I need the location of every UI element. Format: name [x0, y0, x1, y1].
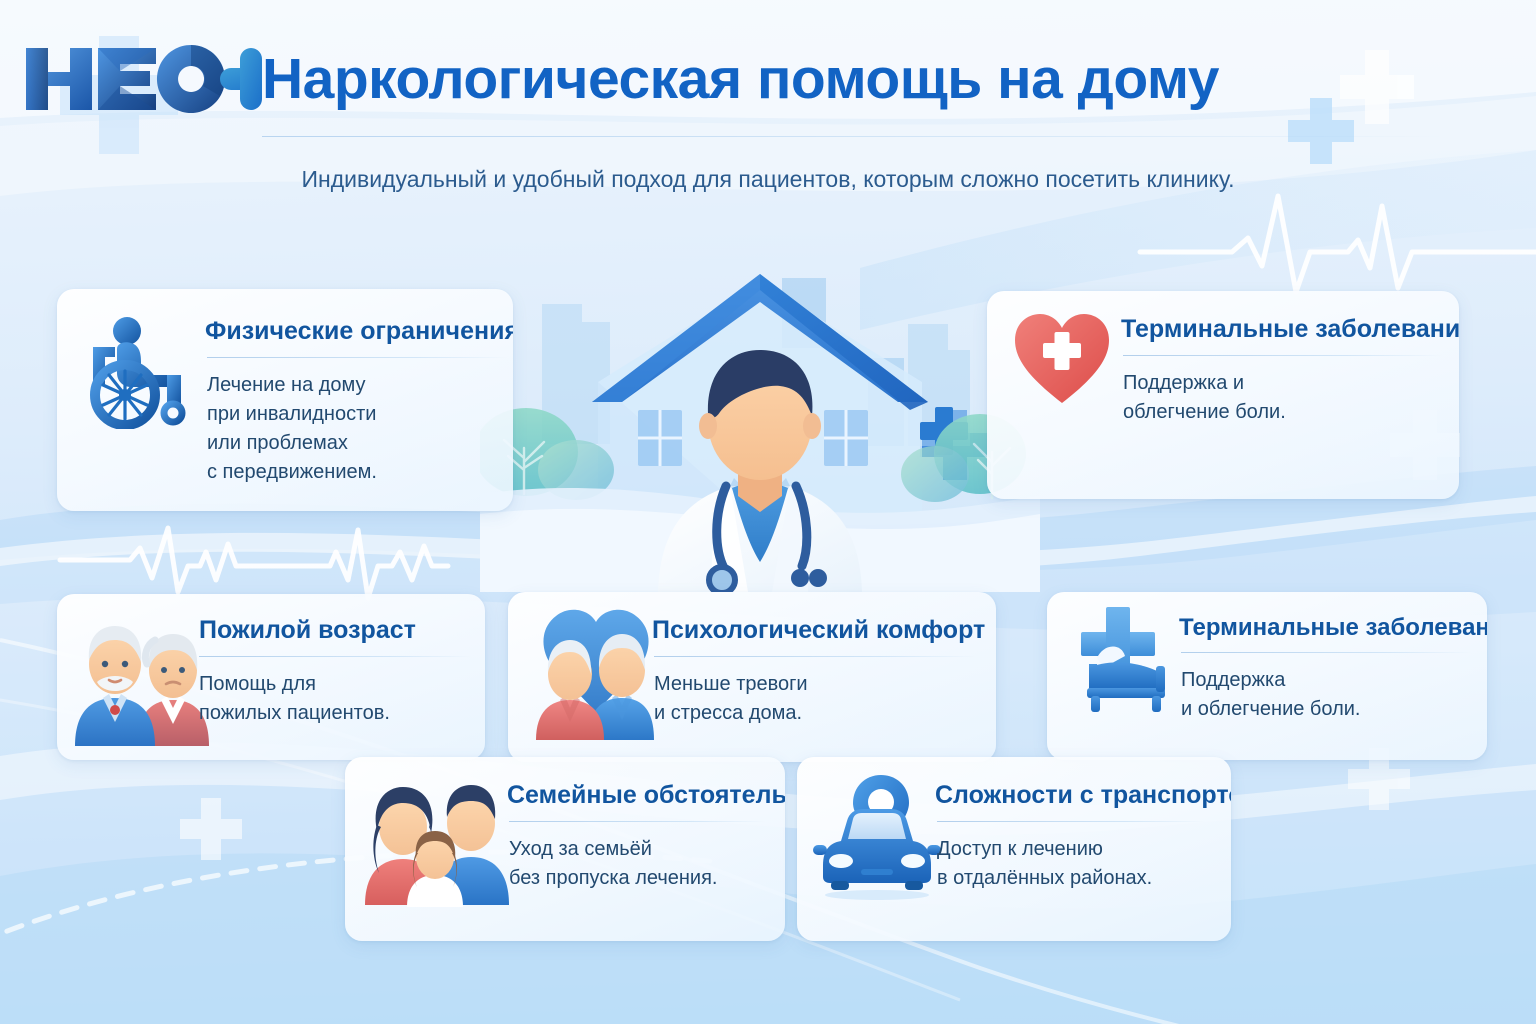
card-title: Терминальные заболевания: [1121, 315, 1459, 344]
card-title: Сложности с транспортом: [935, 781, 1231, 810]
card-title: Терминальные заболевания: [1179, 614, 1487, 642]
card-family-circumstances[interactable]: Семейные обстоятельства Уход за семьёй б…: [345, 757, 785, 941]
brand-logo[interactable]: [22, 40, 262, 118]
card-terminal-illness-bed[interactable]: Терминальные заболевания Поддержка и обл…: [1047, 592, 1487, 760]
card-terminal-illness-heart[interactable]: Терминальные заболевания Поддержка и обл…: [987, 291, 1459, 499]
infographic-poster: Наркологическая помощь на дому Индивидуа…: [0, 0, 1536, 1024]
title-divider: [262, 136, 1447, 137]
card-description: Доступ к лечению в отдалённых районах.: [937, 835, 1207, 893]
wheelchair-icon: [81, 309, 201, 429]
card-divider: [199, 656, 471, 657]
card-divider: [937, 821, 1205, 822]
two-people-heart-icon: [528, 606, 664, 742]
card-description: Поддержка и облегчение боли.: [1123, 369, 1443, 427]
card-physical-limitations[interactable]: Физические ограничения Лечение на дому п…: [57, 289, 513, 511]
card-divider: [654, 656, 976, 657]
card-description: Меньше тревоги и стресса дома.: [654, 670, 976, 728]
card-description: Уход за семьёй без пропуска лечения.: [509, 835, 767, 893]
doctor-at-home-illustration: [480, 262, 1040, 592]
card-divider: [1181, 652, 1471, 653]
card-description: Лечение на дому при инвалидности или про…: [207, 371, 499, 487]
card-divider: [509, 821, 765, 822]
hospital-bed-cross-icon: [1063, 602, 1187, 726]
card-description: Помощь для пожилых пациентов.: [199, 670, 471, 728]
heart-cross-icon: [1011, 307, 1113, 409]
card-divider: [1123, 355, 1443, 356]
card-title: Пожилой возраст: [199, 616, 416, 645]
decorative-cross-icon: [180, 798, 242, 860]
card-elderly-age[interactable]: Пожилой возраст Помощь для пожилых пацие…: [57, 594, 485, 760]
page-subtitle: Индивидуальный и удобный подход для паци…: [268, 162, 1268, 197]
car-location-pin-icon: [807, 769, 943, 905]
card-title: Семейные обстоятельства: [507, 781, 785, 810]
card-transport-difficulties[interactable]: Сложности с транспортом Доступ к лечению…: [797, 757, 1231, 941]
page-header: Наркологическая помощь на дому Индивидуа…: [0, 0, 1536, 150]
card-divider: [207, 357, 507, 358]
page-title: Наркологическая помощь на дому: [262, 46, 1219, 112]
card-title: Психологический комфорт: [652, 616, 985, 645]
family-icon: [359, 769, 515, 909]
card-description: Поддержка и облегчение боли.: [1181, 666, 1473, 724]
elderly-couple-icon: [73, 608, 213, 748]
card-psychological-comfort[interactable]: Психологический комфорт Меньше тревоги и…: [508, 592, 996, 762]
card-title: Физические ограничения: [205, 317, 513, 346]
